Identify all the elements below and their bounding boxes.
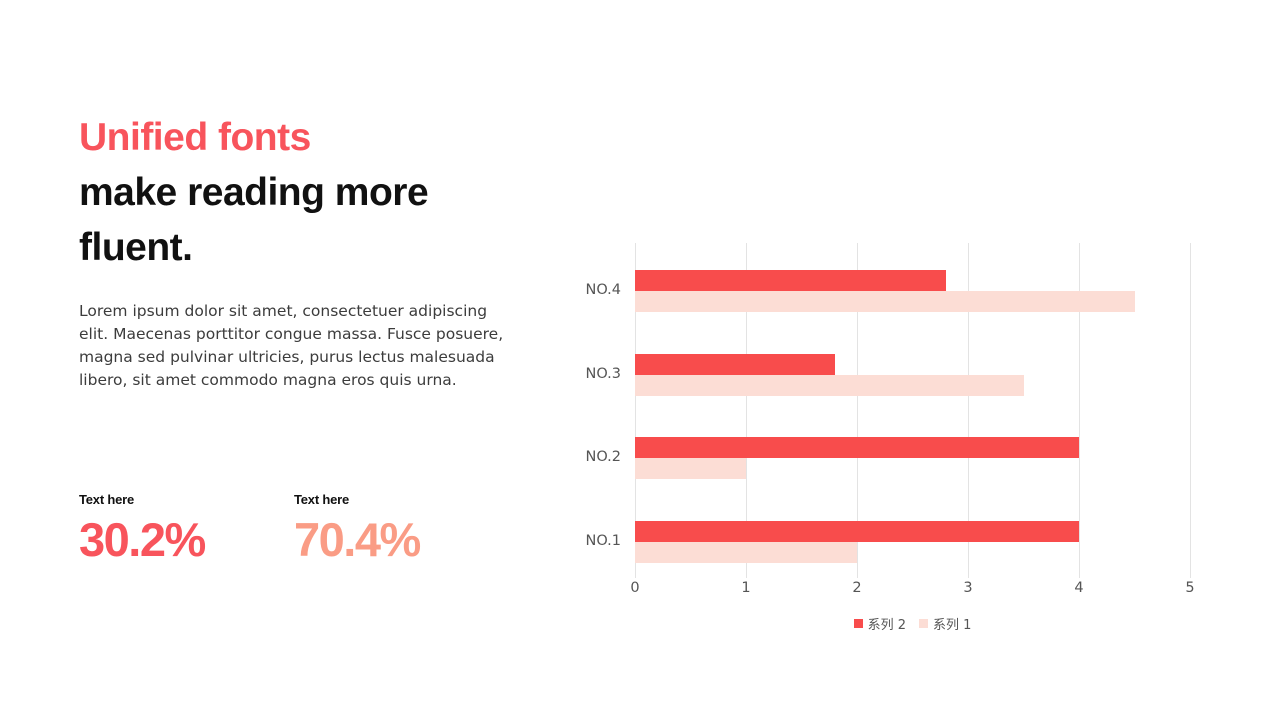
- x-tick-label: 3: [963, 580, 972, 596]
- headline-line-3: fluent.: [79, 220, 519, 275]
- legend-item[interactable]: 系列 1: [919, 614, 971, 633]
- bar-group: NO.1: [635, 521, 1190, 563]
- bar-group: NO.4: [635, 270, 1190, 312]
- stat-value-1: 30.2%: [79, 516, 294, 563]
- gridline: [1190, 243, 1191, 578]
- page-title: Unified fonts make reading more fluent.: [79, 110, 519, 275]
- bar-series-1[interactable]: [635, 375, 1024, 396]
- x-tick-label: 4: [1074, 580, 1083, 596]
- x-tick-label: 0: [630, 580, 639, 596]
- bar-series-1[interactable]: [635, 458, 746, 479]
- stat-label-2: Text here: [294, 492, 509, 507]
- stat-block-1: Text here 30.2%: [79, 492, 294, 563]
- stat-value-2: 70.4%: [294, 516, 509, 563]
- chart-legend: 系列 2系列 1: [635, 614, 1190, 633]
- headline-line-2: make reading more: [79, 165, 519, 220]
- bar-series-2[interactable]: [635, 437, 1079, 458]
- legend-swatch-icon: [919, 619, 928, 628]
- stat-label-1: Text here: [79, 492, 294, 507]
- bar-group: NO.3: [635, 354, 1190, 396]
- legend-swatch-icon: [854, 619, 863, 628]
- x-tick-label: 2: [852, 580, 861, 596]
- stats-row: Text here 30.2% Text here 70.4%: [79, 492, 509, 563]
- x-tick-label: 1: [741, 580, 750, 596]
- bar-series-2[interactable]: [635, 270, 946, 291]
- x-tick-label: 5: [1185, 580, 1194, 596]
- category-label: NO.2: [585, 449, 621, 465]
- stat-block-2: Text here 70.4%: [294, 492, 509, 563]
- headline-line-1: Unified fonts: [79, 110, 519, 165]
- category-label: NO.1: [585, 533, 621, 549]
- text-panel: Unified fonts make reading more fluent. …: [79, 110, 519, 275]
- legend-item[interactable]: 系列 2: [854, 614, 906, 633]
- bar-chart: NO.1NO.2NO.3NO.4 012345 系列 2系列 1: [570, 236, 1210, 636]
- bar-series-2[interactable]: [635, 354, 835, 375]
- category-label: NO.3: [585, 366, 621, 382]
- category-label: NO.4: [585, 282, 621, 298]
- chart-plot-area: NO.1NO.2NO.3NO.4: [635, 243, 1190, 578]
- bar-series-1[interactable]: [635, 542, 857, 563]
- body-paragraph: Lorem ipsum dolor sit amet, consectetuer…: [79, 300, 504, 392]
- bar-group: NO.2: [635, 437, 1190, 479]
- legend-label: 系列 2: [868, 614, 906, 633]
- bar-series-1[interactable]: [635, 291, 1135, 312]
- legend-label: 系列 1: [933, 614, 971, 633]
- bar-series-2[interactable]: [635, 521, 1079, 542]
